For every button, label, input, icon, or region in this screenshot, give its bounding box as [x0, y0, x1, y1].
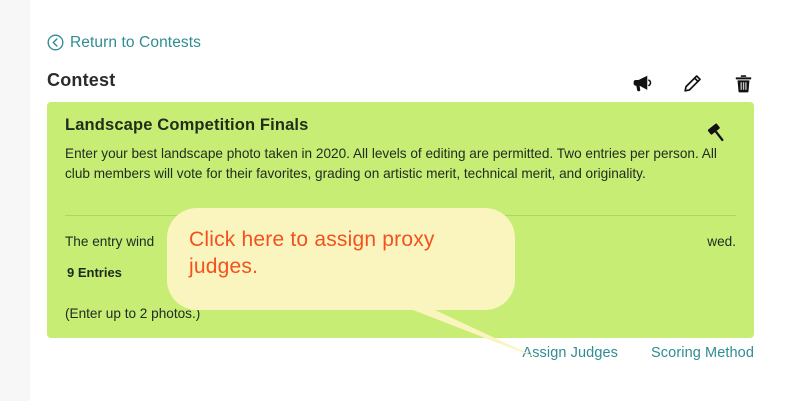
gavel-icon[interactable]: [706, 119, 732, 145]
content-panel: Return to Contests Contest: [30, 0, 785, 401]
app-root: Return to Contests Contest: [0, 0, 785, 401]
scoring-method-link[interactable]: Scoring Method: [651, 345, 754, 361]
assign-judges-link[interactable]: Assign Judges: [522, 345, 618, 361]
entry-window-suffix-wrap: wed.: [707, 234, 736, 249]
megaphone-icon[interactable]: [630, 72, 652, 94]
header-actions: [630, 72, 754, 94]
return-to-contests-label: Return to Contests: [70, 35, 201, 51]
card-footer: Assign Judges Scoring Method: [47, 345, 754, 361]
page-heading-row: Contest: [47, 70, 754, 102]
contest-card: Landscape Competition Finals Enter your …: [47, 102, 754, 338]
contest-title: Landscape Competition Finals: [65, 116, 736, 135]
trash-icon[interactable]: [732, 72, 754, 94]
page-title: Contest: [47, 70, 115, 91]
entry-window-prefix: The entry wind: [65, 234, 154, 249]
return-to-contests-link[interactable]: Return to Contests: [47, 34, 201, 51]
circle-chevron-left-icon: [47, 34, 64, 51]
pencil-icon[interactable]: [681, 72, 703, 94]
entry-window-text: The entry wind: [65, 234, 154, 249]
card-divider: [65, 215, 736, 216]
photo-limit-note: (Enter up to 2 photos.): [65, 306, 200, 321]
contest-description: Enter your best landscape photo taken in…: [65, 144, 725, 183]
entries-count: 9 Entries: [67, 265, 122, 280]
entry-window-suffix: wed.: [707, 234, 736, 249]
